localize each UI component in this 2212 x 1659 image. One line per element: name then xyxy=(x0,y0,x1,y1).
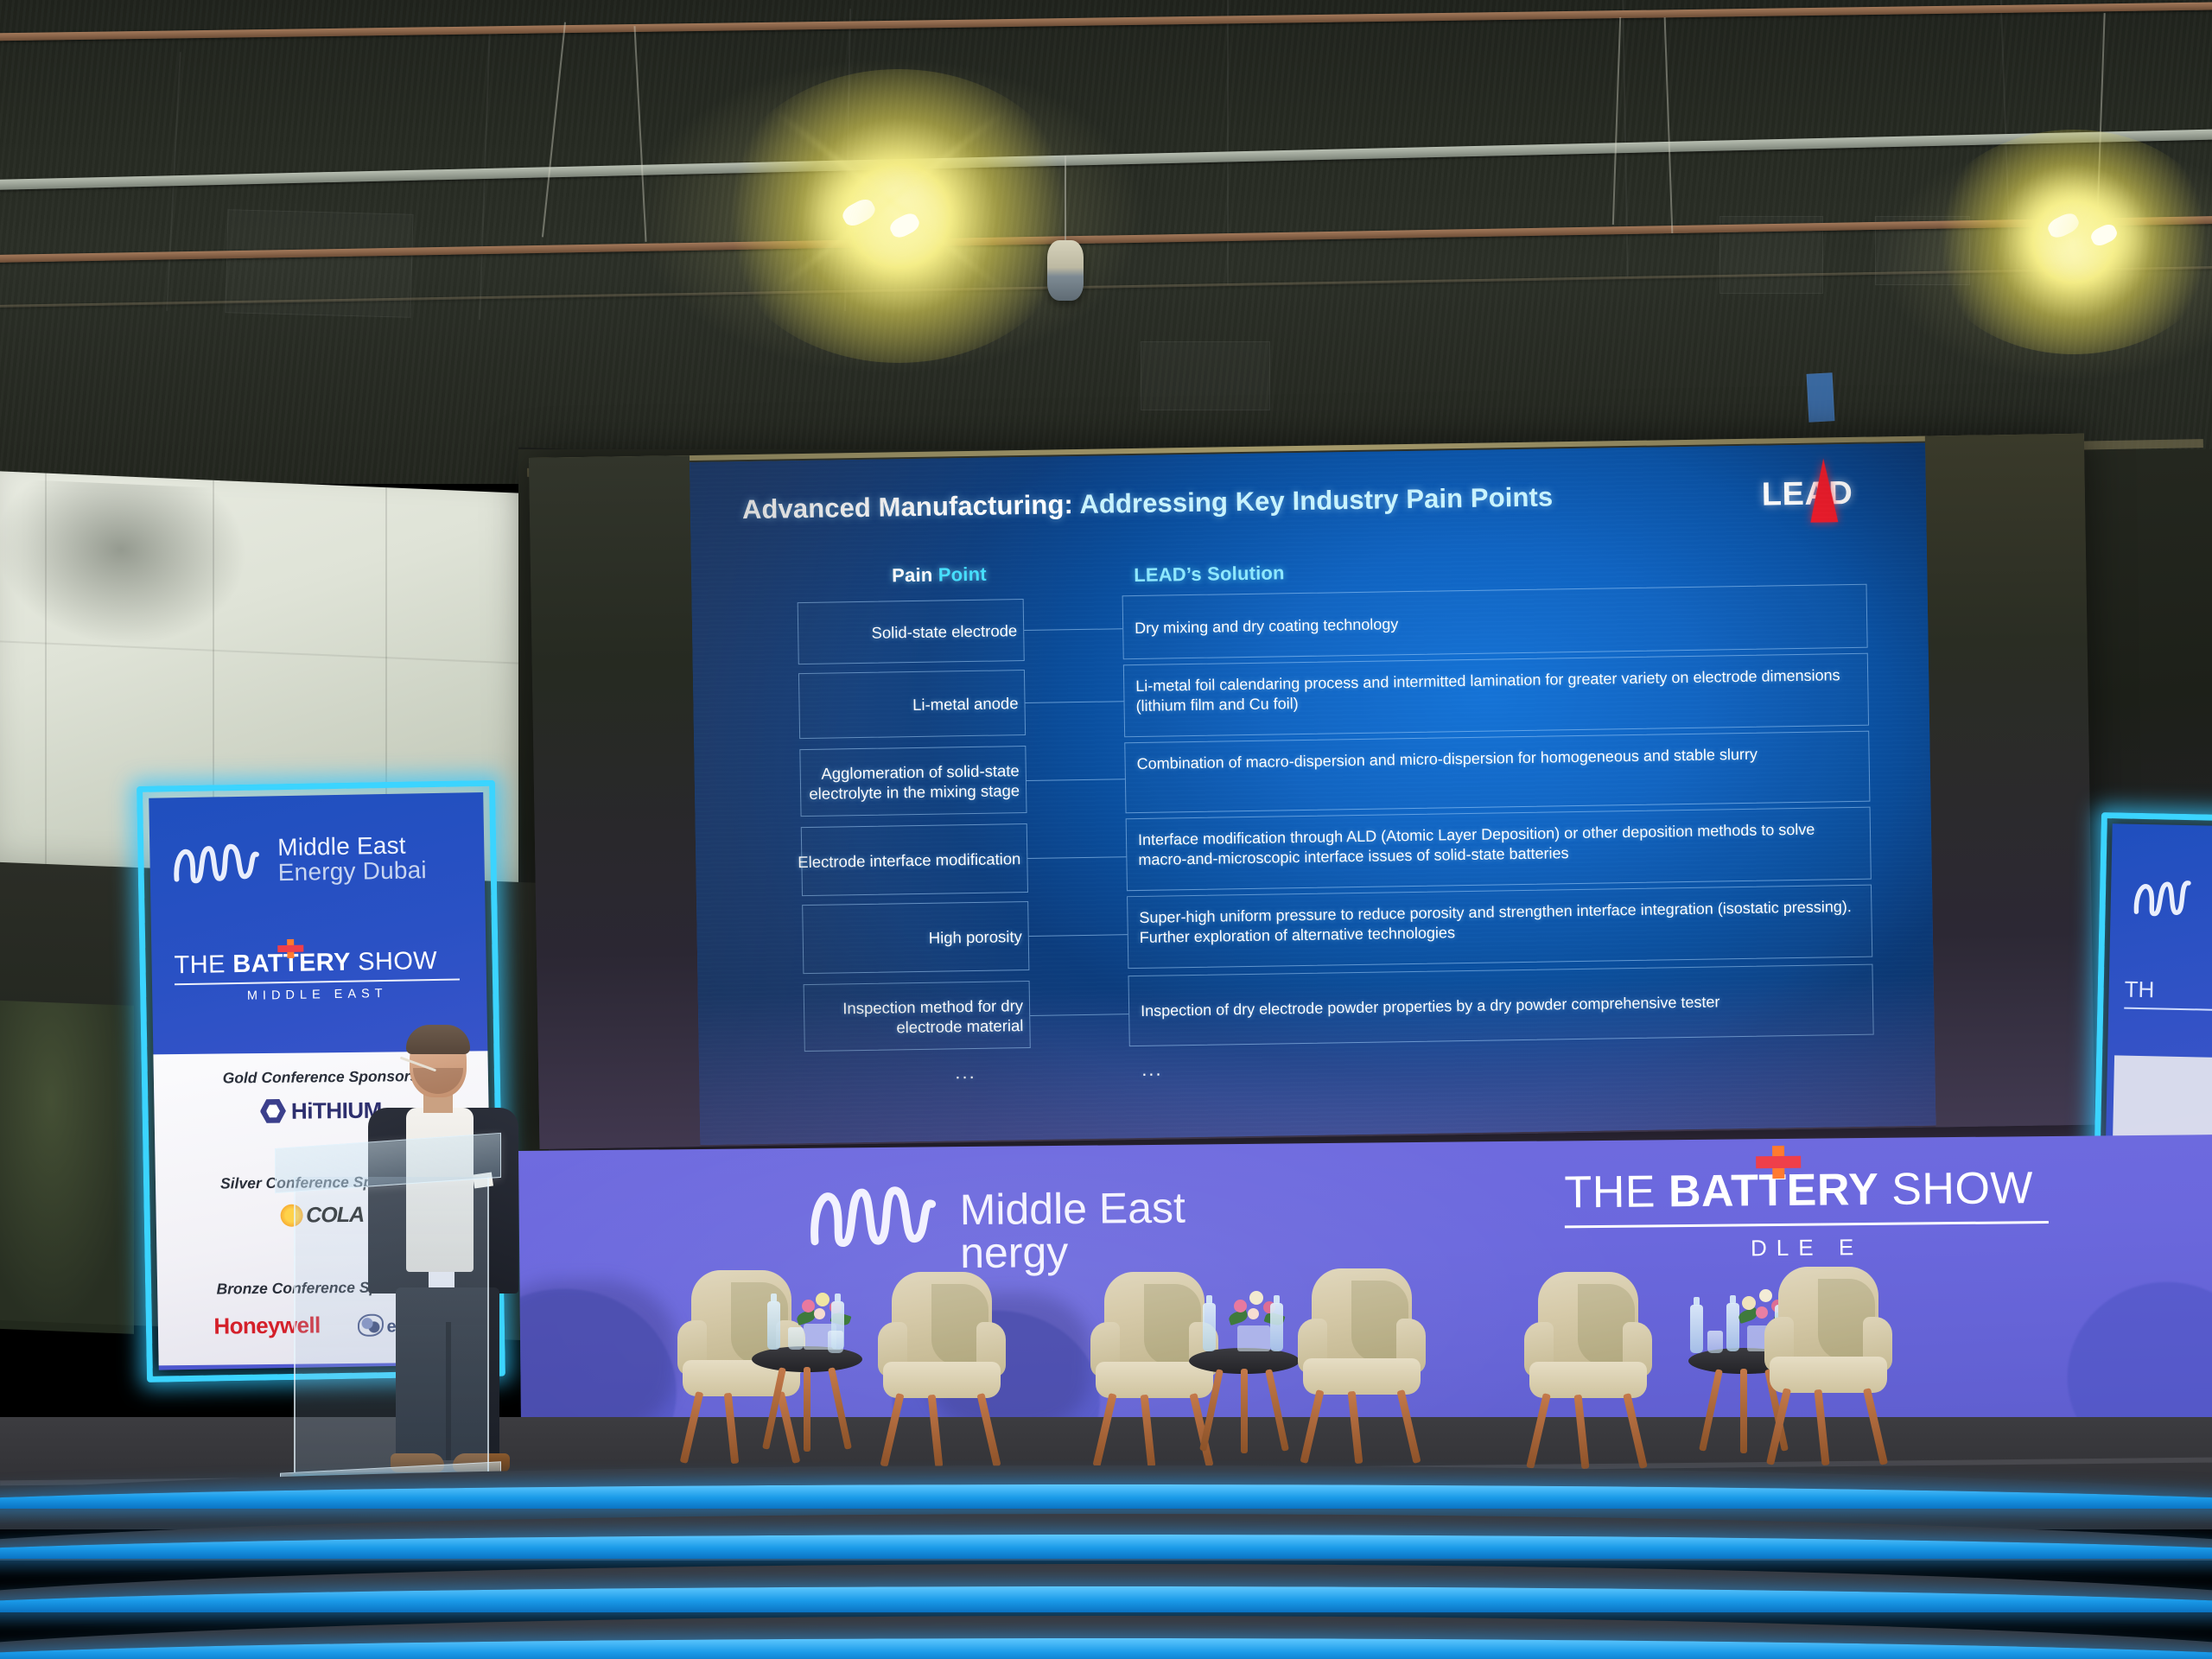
flower xyxy=(1249,1291,1263,1305)
side-table xyxy=(752,1346,862,1450)
flower xyxy=(1248,1308,1259,1319)
wall-shadow xyxy=(0,479,251,654)
backdrop-show-the: THE xyxy=(1564,1166,1669,1217)
hithium-hex-icon xyxy=(260,1098,286,1124)
drinking-glass xyxy=(1707,1331,1723,1353)
battery-show-logo: THE BATTERY SHOW MIDDLE EAST xyxy=(174,947,460,1005)
stage-chair xyxy=(1764,1267,1892,1431)
chair-seat xyxy=(1770,1357,1887,1393)
stage-chair xyxy=(1524,1272,1652,1436)
backdrop-show-sub: DLE E xyxy=(1565,1232,2049,1263)
drinking-glass xyxy=(828,1331,843,1353)
backdrop-brand-text: Middle East nergy xyxy=(959,1186,1185,1275)
table-leg xyxy=(828,1367,852,1450)
brand-line-2: Energy xyxy=(277,857,355,886)
flower xyxy=(1234,1300,1247,1313)
screen-letterbox-left xyxy=(529,455,701,1149)
water-bottle xyxy=(1690,1305,1703,1353)
battery-plus-icon xyxy=(1756,1146,1801,1179)
ceiling-seam xyxy=(1227,0,1229,285)
flower xyxy=(814,1308,825,1319)
battery-show-show: SHOW xyxy=(351,947,438,976)
flower-arrangement xyxy=(795,1287,855,1338)
brand-line-2-suffix: Dubai xyxy=(362,856,427,884)
battery-show-sub: MIDDLE EAST xyxy=(175,986,460,1005)
ceiling-blue-tag xyxy=(1807,372,1835,422)
slide-vignette xyxy=(690,443,1935,1145)
battery-show-the: THE xyxy=(174,950,232,979)
slide-content: Advanced Manufacturing: Addressing Key I… xyxy=(690,443,1935,1145)
flower xyxy=(802,1300,815,1313)
backdrop-brand-line-2: nergy xyxy=(960,1230,1186,1275)
table-leg xyxy=(762,1367,786,1450)
presentation-screen[interactable]: Advanced Manufacturing: Addressing Key I… xyxy=(529,434,2094,1149)
middle-east-energy-logo-icon xyxy=(804,1174,951,1259)
speaker-rod xyxy=(1065,156,1066,251)
middle-east-energy-logo-icon xyxy=(168,836,271,891)
table-leg xyxy=(1199,1369,1224,1452)
banner-brand-text: Middle East Energy Dubai xyxy=(277,833,427,885)
table-leg xyxy=(1241,1369,1248,1453)
hall-ceiling xyxy=(0,0,2212,484)
battery-show-rule xyxy=(175,979,460,986)
table-leg xyxy=(1699,1369,1723,1452)
water-bottle xyxy=(1203,1303,1216,1351)
flower xyxy=(1742,1296,1756,1310)
acrylic-podium xyxy=(275,1141,501,1486)
right-banner-the: TH xyxy=(2124,976,2154,1004)
ceiling-light-glow xyxy=(1927,130,2212,354)
backdrop-battery-show-logo: THE BATTERY SHOW DLE E xyxy=(1564,1162,2049,1263)
stage-steps xyxy=(0,1460,2212,1659)
backdrop-brand-line-1: Middle East xyxy=(959,1186,1185,1232)
table-leg xyxy=(1740,1369,1747,1453)
table-leg xyxy=(1265,1369,1289,1452)
ceiling-panel xyxy=(1141,341,1270,410)
ceiling-light-glow xyxy=(717,69,1080,363)
battery-plus-icon xyxy=(277,939,303,959)
stage-chair xyxy=(1298,1268,1426,1433)
stage-chair xyxy=(878,1272,1006,1436)
backdrop-show-rule xyxy=(1565,1221,2049,1228)
podium-body xyxy=(294,1177,489,1472)
foliage xyxy=(0,1001,134,1334)
side-table xyxy=(1189,1348,1300,1452)
presenter-hair xyxy=(406,1025,470,1054)
screen-letterbox-right xyxy=(1925,434,2095,1128)
right-banner-rule xyxy=(2124,1007,2212,1012)
hanging-speaker xyxy=(1047,240,1084,301)
conference-photo: Advanced Manufacturing: Addressing Key I… xyxy=(0,0,2212,1659)
middle-east-energy-logo-icon xyxy=(2129,873,2212,925)
water-bottle xyxy=(767,1301,780,1350)
water-bottle xyxy=(1270,1303,1283,1351)
backdrop-show-show: SHOW xyxy=(1878,1163,2033,1215)
flower xyxy=(816,1293,829,1306)
table-leg xyxy=(804,1367,810,1452)
